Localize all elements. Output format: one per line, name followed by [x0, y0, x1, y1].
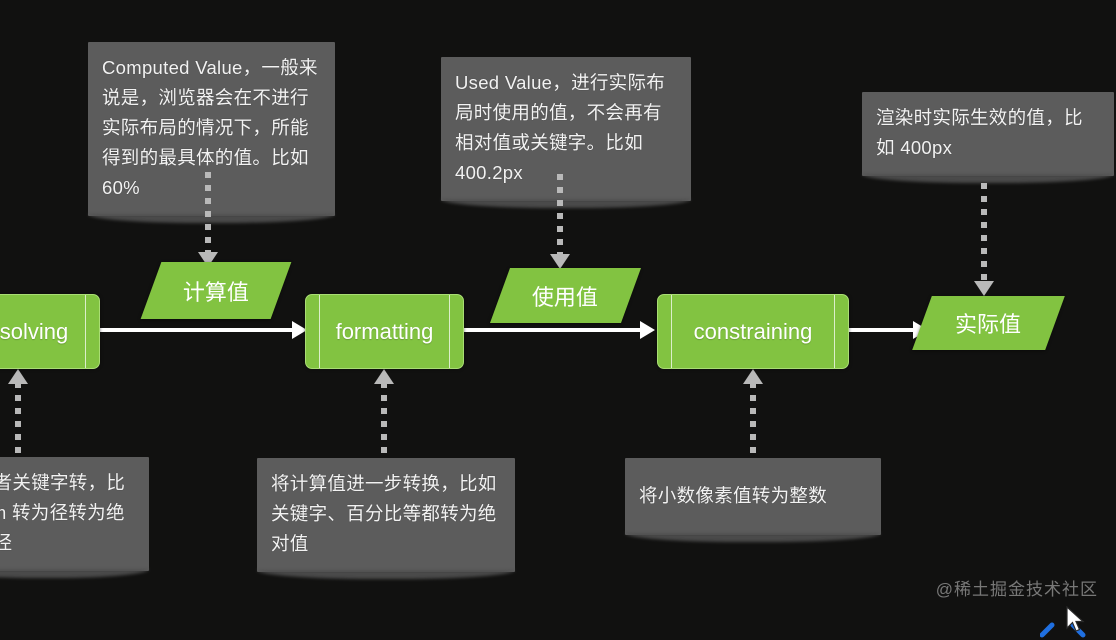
process-node-formatting[interactable]: formatting	[305, 294, 464, 369]
process-node-solving[interactable]: solving	[0, 294, 100, 369]
mouse-cursor-icon	[1066, 606, 1086, 636]
process-node-formatting-label: formatting	[336, 319, 434, 345]
flow-arrow-constraining-to-actual	[847, 328, 915, 332]
dotted-connector-resolving-up	[15, 382, 21, 454]
arrowhead-up-icon	[8, 369, 28, 384]
dotted-connector-used-down	[557, 174, 563, 256]
arrowhead-up-icon	[743, 369, 763, 384]
flow-arrow-solving-to-formatting	[98, 328, 294, 332]
note-formatting-description: 将计算值进一步转换，比如关键字、百分比等都转为绝对值	[257, 458, 515, 572]
arrowhead-down-icon	[974, 281, 994, 296]
note-used-value: Used Value，进行实际布局时使用的值，不会再有相对值或关键字。比如 40…	[441, 57, 691, 201]
note-resolving-description: 值或者关键字转，比如 em 转为径转为绝对路径	[0, 457, 149, 571]
data-node-computed-value[interactable]: 计算值	[141, 262, 292, 319]
data-node-used-value-label: 使用值	[532, 280, 598, 312]
flow-arrow-formatting-to-constraining	[462, 328, 642, 332]
process-node-constraining-label: constraining	[694, 319, 813, 345]
note-constraining-description: 将小数像素值转为整数	[625, 458, 881, 535]
note-actual-value: 渲染时实际生效的值，比如 400px	[862, 92, 1114, 176]
data-node-used-value[interactable]: 使用值	[490, 268, 641, 323]
dotted-connector-actual-down	[981, 183, 987, 283]
data-node-actual-value-label: 实际值	[955, 307, 1021, 339]
data-node-actual-value[interactable]: 实际值	[912, 296, 1065, 350]
dotted-connector-computed-down	[205, 172, 211, 254]
dotted-connector-constraining-up	[750, 382, 756, 454]
process-node-solving-label: solving	[0, 319, 68, 345]
arrowhead-down-icon	[550, 254, 570, 269]
diagram-canvas: Computed Value，一般来说是，浏览器会在不进行实际布局的情况下，所能…	[0, 0, 1116, 640]
process-node-constraining[interactable]: constraining	[657, 294, 849, 369]
arrowhead-up-icon	[374, 369, 394, 384]
data-node-computed-value-label: 计算值	[183, 275, 249, 307]
watermark-text: @稀土掘金技术社区	[936, 575, 1098, 600]
note-computed-value: Computed Value，一般来说是，浏览器会在不进行实际布局的情况下，所能…	[88, 42, 335, 216]
dotted-connector-formatting-up	[381, 382, 387, 454]
